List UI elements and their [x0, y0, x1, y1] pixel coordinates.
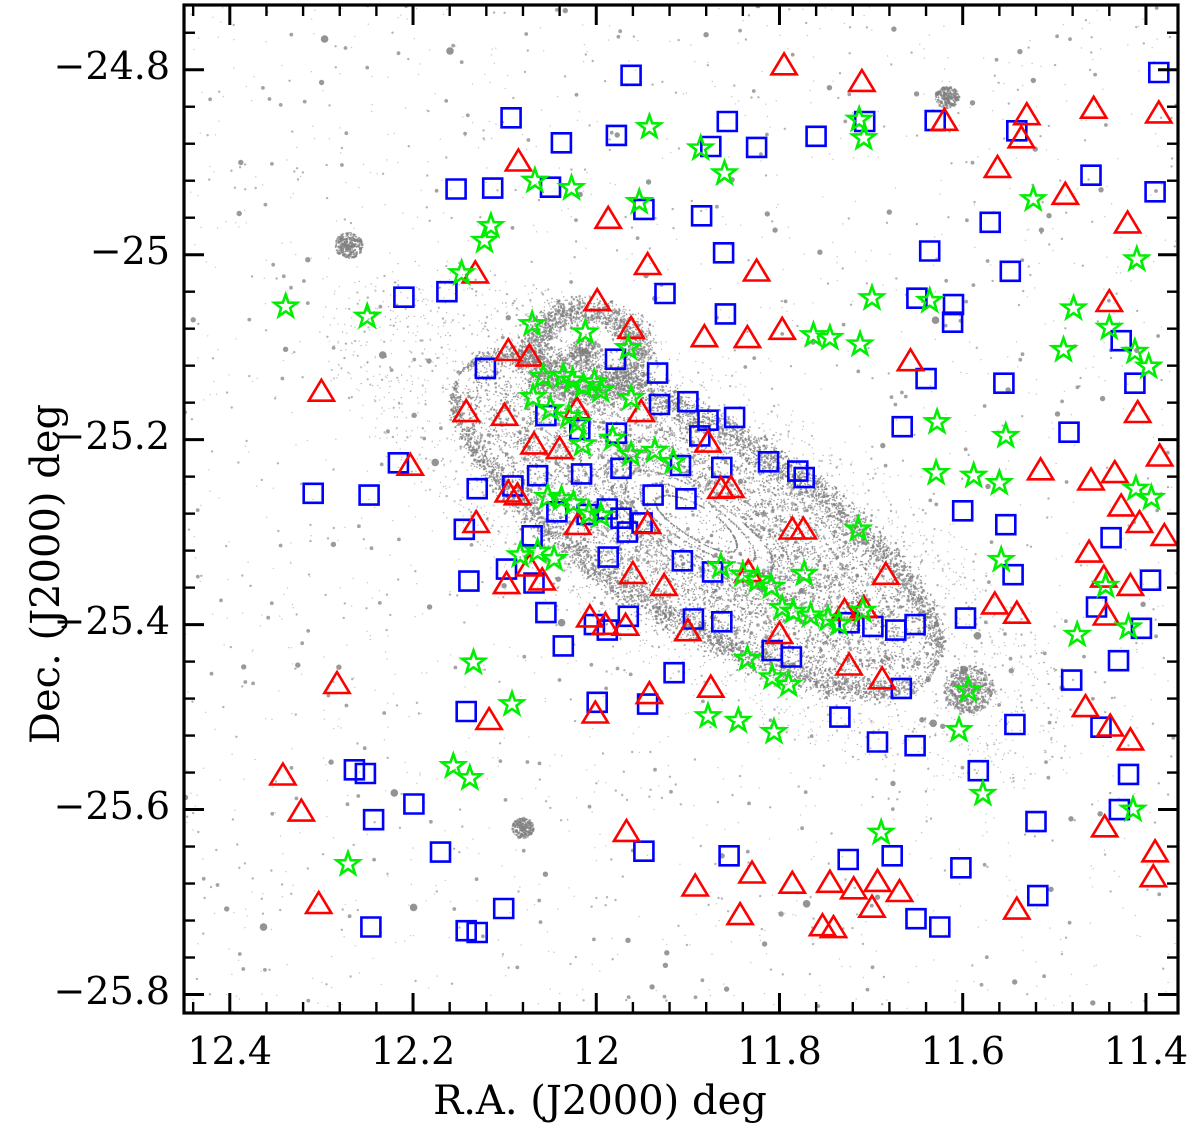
source-markers[interactable] — [270, 53, 1200, 942]
marker-green-stars[interactable] — [948, 718, 971, 740]
marker-blue-squares[interactable] — [953, 501, 972, 520]
marker-blue-squares[interactable] — [1119, 765, 1138, 784]
marker-green-stars[interactable] — [962, 464, 985, 486]
marker-green-stars[interactable] — [501, 692, 524, 714]
marker-red-triangles[interactable] — [506, 150, 531, 171]
marker-green-stars[interactable] — [926, 410, 949, 432]
marker-red-triangles[interactable] — [306, 892, 331, 913]
marker-blue-squares[interactable] — [1028, 886, 1047, 905]
marker-green-stars[interactable] — [763, 720, 786, 742]
sky-map-plot[interactable] — [0, 0, 1200, 1148]
x-tick-label: 12.4 — [130, 1029, 330, 1073]
marker-green-stars[interactable] — [638, 115, 661, 137]
marker-green-stars[interactable] — [849, 332, 872, 354]
marker-green-stars[interactable] — [925, 461, 948, 483]
y-tick-label: −25.4 — [54, 599, 170, 643]
marker-red-triangles[interactable] — [1146, 101, 1171, 122]
marker-blue-squares[interactable] — [431, 843, 450, 862]
marker-blue-squares[interactable] — [536, 603, 555, 622]
marker-red-triangles[interactable] — [1143, 840, 1168, 861]
marker-blue-squares[interactable] — [951, 858, 970, 877]
marker-blue-squares[interactable] — [404, 795, 423, 814]
marker-blue-squares[interactable] — [634, 842, 653, 861]
x-tick-label: 11.4 — [1046, 1029, 1200, 1073]
marker-green-stars[interactable] — [337, 852, 360, 874]
marker-blue-squares[interactable] — [656, 284, 675, 303]
marker-blue-squares[interactable] — [360, 486, 379, 505]
marker-blue-squares[interactable] — [541, 178, 560, 197]
marker-blue-squares[interactable] — [1001, 262, 1020, 281]
marker-blue-squares[interactable] — [714, 243, 733, 262]
y-tick-label: −25.8 — [54, 969, 170, 1013]
marker-blue-squares[interactable] — [502, 108, 521, 127]
marker-blue-squares[interactable] — [447, 180, 466, 199]
marker-red-triangles[interactable] — [1147, 445, 1172, 466]
marker-red-triangles[interactable] — [692, 325, 717, 346]
y-tick-label: −25 — [90, 229, 170, 273]
marker-red-triangles[interactable] — [985, 156, 1010, 177]
marker-red-triangles[interactable] — [1115, 212, 1140, 233]
marker-green-stars[interactable] — [524, 169, 547, 191]
marker-blue-squares[interactable] — [930, 918, 949, 937]
marker-blue-squares[interactable] — [1102, 528, 1121, 547]
marker-red-triangles[interactable] — [596, 207, 621, 228]
marker-blue-squares[interactable] — [1005, 715, 1024, 734]
marker-red-triangles[interactable] — [698, 676, 723, 697]
marker-red-triangles[interactable] — [780, 872, 805, 893]
marker-blue-squares[interactable] — [1149, 63, 1168, 82]
marker-red-triangles[interactable] — [289, 800, 314, 821]
marker-red-triangles[interactable] — [464, 511, 489, 532]
marker-red-triangles[interactable] — [1152, 524, 1177, 545]
marker-red-triangles[interactable] — [898, 349, 923, 370]
marker-red-triangles[interactable] — [849, 70, 874, 91]
marker-blue-squares[interactable] — [907, 909, 926, 928]
marker-green-stars[interactable] — [1022, 187, 1045, 209]
marker-red-triangles[interactable] — [324, 672, 349, 693]
marker-red-triangles[interactable] — [735, 326, 760, 347]
marker-blue-squares[interactable] — [1109, 651, 1128, 670]
marker-blue-squares[interactable] — [483, 179, 502, 198]
marker-blue-squares[interactable] — [718, 112, 737, 131]
y-tick-label: −25.6 — [54, 784, 170, 828]
marker-blue-squares[interactable] — [996, 515, 1015, 534]
marker-blue-squares[interactable] — [1060, 423, 1079, 442]
marker-blue-squares[interactable] — [1027, 812, 1046, 831]
marker-red-triangles[interactable] — [1125, 401, 1150, 422]
marker-blue-squares[interactable] — [944, 295, 963, 314]
marker-green-stars[interactable] — [1062, 296, 1085, 318]
marker-red-triangles[interactable] — [477, 708, 502, 729]
marker-green-stars[interactable] — [459, 766, 482, 788]
marker-blue-squares[interactable] — [917, 369, 936, 388]
marker-blue-squares[interactable] — [747, 138, 766, 157]
marker-red-triangles[interactable] — [1078, 469, 1103, 490]
marker-blue-squares[interactable] — [665, 663, 684, 682]
marker-red-triangles[interactable] — [1028, 458, 1053, 479]
marker-green-stars[interactable] — [988, 471, 1011, 493]
marker-blue-squares[interactable] — [1062, 671, 1081, 690]
marker-blue-squares[interactable] — [839, 850, 858, 869]
marker-green-stars[interactable] — [274, 295, 297, 317]
marker-red-triangles[interactable] — [635, 253, 660, 274]
y-axis-title: Dec. (J2000) deg — [23, 404, 69, 744]
marker-green-stars[interactable] — [861, 286, 884, 308]
x-tick-label: 12.2 — [313, 1029, 513, 1073]
marker-green-stars[interactable] — [1098, 316, 1121, 338]
marker-red-triangles[interactable] — [744, 260, 769, 281]
marker-green-stars[interactable] — [697, 704, 720, 726]
marker-red-triangles[interactable] — [728, 903, 753, 924]
marker-red-triangles[interactable] — [1102, 461, 1127, 482]
marker-blue-squares[interactable] — [807, 127, 826, 146]
marker-blue-squares[interactable] — [361, 918, 380, 937]
marker-blue-squares[interactable] — [554, 636, 573, 655]
marker-blue-squares[interactable] — [692, 206, 711, 225]
x-axis-title: R.A. (J2000) deg — [0, 1078, 1200, 1124]
marker-green-stars[interactable] — [727, 709, 750, 731]
marker-blue-squares[interactable] — [457, 702, 476, 721]
marker-blue-squares[interactable] — [552, 133, 571, 152]
marker-red-triangles[interactable] — [1081, 97, 1106, 118]
marker-green-stars[interactable] — [442, 754, 465, 776]
marker-red-triangles[interactable] — [521, 433, 546, 454]
marker-red-triangles[interactable] — [614, 820, 639, 841]
marker-red-triangles[interactable] — [739, 862, 764, 883]
figure-root: 12.412.21211.811.611.4 −24.8−25−25.2−25.… — [0, 0, 1200, 1148]
marker-red-triangles[interactable] — [1004, 898, 1029, 919]
marker-green-stars[interactable] — [1125, 247, 1148, 269]
marker-green-stars[interactable] — [819, 326, 842, 348]
x-tick-label: 11.8 — [679, 1029, 879, 1073]
marker-blue-squares[interactable] — [459, 572, 478, 591]
marker-red-triangles[interactable] — [865, 870, 890, 891]
y-tick-label: −25.2 — [54, 414, 170, 458]
marker-blue-squares[interactable] — [716, 304, 735, 323]
x-tick-label: 11.6 — [863, 1029, 1063, 1073]
marker-red-triangles[interactable] — [1009, 126, 1034, 147]
marker-green-stars[interactable] — [994, 424, 1017, 446]
marker-blue-squares[interactable] — [956, 609, 975, 628]
marker-blue-squares[interactable] — [644, 486, 663, 505]
marker-red-triangles[interactable] — [309, 380, 334, 401]
marker-blue-squares[interactable] — [1082, 166, 1101, 185]
marker-red-triangles[interactable] — [817, 871, 842, 892]
marker-green-stars[interactable] — [1052, 338, 1075, 360]
marker-green-stars[interactable] — [1066, 623, 1089, 645]
marker-blue-squares[interactable] — [364, 810, 383, 829]
marker-blue-squares[interactable] — [622, 66, 641, 85]
x-tick-label: 12 — [496, 1029, 696, 1073]
marker-red-triangles[interactable] — [1118, 574, 1143, 595]
marker-blue-squares[interactable] — [981, 213, 1000, 232]
marker-blue-squares[interactable] — [830, 708, 849, 727]
marker-green-stars[interactable] — [972, 782, 995, 804]
marker-green-stars[interactable] — [870, 821, 893, 843]
marker-blue-squares[interactable] — [893, 417, 912, 436]
marker-green-stars[interactable] — [462, 651, 485, 673]
marker-red-triangles[interactable] — [1141, 865, 1166, 886]
marker-blue-squares[interactable] — [883, 846, 902, 865]
marker-red-triangles[interactable] — [683, 875, 708, 896]
marker-red-triangles[interactable] — [982, 593, 1007, 614]
y-tick-label: −24.8 — [54, 44, 170, 88]
marker-blue-squares[interactable] — [494, 899, 513, 918]
